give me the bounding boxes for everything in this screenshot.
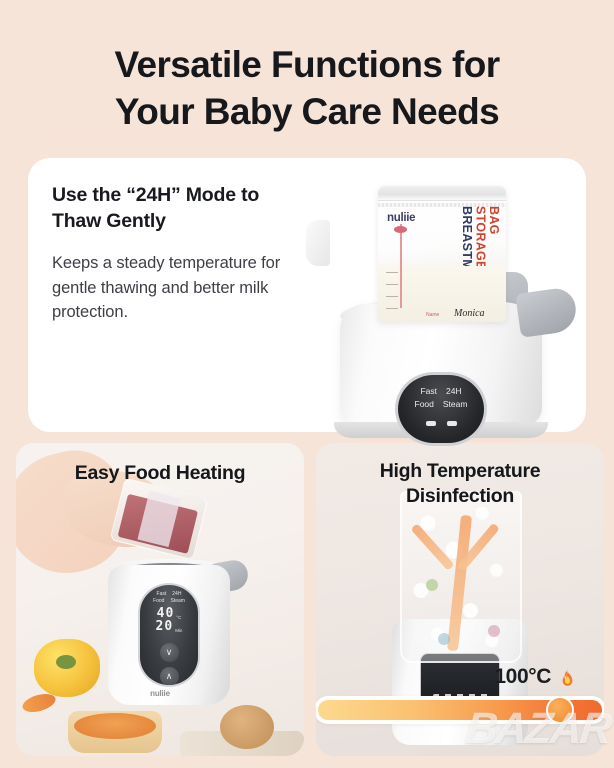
temperature-progress-bar[interactable]	[316, 696, 604, 724]
card-thaw-text: Use the “24H” Mode to Thaw Gently Keeps …	[52, 182, 324, 324]
warmer-mode-labels: Fast 24H Food Steam	[140, 591, 198, 604]
bottle-warmer-device-top: nuliie BREASTMILK STORAGE BAG Name Monic…	[322, 186, 574, 448]
card-thaw-body: Keeps a steady temperature for gentle th…	[52, 251, 324, 324]
breastmilk-storage-bag: nuliie BREASTMILK STORAGE BAG Name Monic…	[378, 186, 506, 322]
card-food-heating: Fast 24H Food Steam 40 °C 20 Min	[16, 443, 304, 756]
bag-name-label: Name	[426, 312, 439, 318]
warmer-control-panel[interactable]: Fast 24H Food Steam 40 °C 20 Min	[138, 583, 200, 687]
temperature-value: 100°C	[494, 665, 551, 689]
device-control-panel[interactable]: Fast 24H Food Steam	[395, 372, 487, 446]
card-disinfection-title: High Temperature Disinfection	[316, 459, 604, 509]
glass-bottle	[400, 491, 522, 663]
card-disinfection-title-line-1: High Temperature	[380, 460, 541, 482]
indicator-dot	[426, 421, 436, 426]
pepper-stem	[56, 655, 76, 669]
mode-label-24h: 24H	[172, 591, 181, 597]
device-handle	[515, 286, 579, 338]
decrease-button[interactable]: ∨	[160, 643, 179, 662]
card-thaw-heading-line-1: Use the “24H” Mode to	[52, 184, 259, 206]
progress-bar-handle[interactable]	[546, 696, 574, 724]
bowl-puree	[74, 713, 156, 739]
card-disinfection: 100°C High Temperature Disinfection	[316, 443, 604, 756]
lcd-time-unit: Min	[175, 628, 182, 633]
mode-label-steam: Steam	[170, 598, 184, 604]
page-title: Versatile Functions for Your Baby Care N…	[0, 42, 614, 136]
bread-roll	[220, 705, 274, 749]
germ-icon	[426, 579, 438, 591]
bag-measure-scale	[386, 266, 430, 318]
germ-icon	[488, 625, 500, 637]
card-food-heating-title: Easy Food Heating	[16, 461, 304, 486]
mode-label-fast: Fast	[420, 386, 437, 396]
bag-brand-logo: nuliie	[387, 212, 415, 224]
panel-indicator-dots	[398, 421, 484, 426]
lcd-time-value: 20	[156, 620, 174, 633]
card-disinfection-title-line-2: Disinfection	[406, 485, 514, 507]
mode-label-fast: Fast	[157, 591, 167, 597]
page-title-line-2: Your Baby Care Needs	[0, 89, 614, 136]
germ-icon	[438, 633, 450, 645]
bag-top-seal	[378, 186, 506, 201]
bag-signature: Monica	[454, 308, 485, 319]
mode-label-food: Food	[415, 399, 434, 409]
bag-red-marker	[394, 226, 407, 233]
indicator-dot	[447, 421, 457, 426]
warmer-button-group: ∨ ∧ ≡ ⏻	[140, 643, 198, 687]
card-thaw-heading: Use the “24H” Mode to Thaw Gently	[52, 182, 324, 234]
mode-label-steam: Steam	[443, 399, 468, 409]
increase-button[interactable]: ∧	[160, 667, 179, 686]
temperature-readout: 100°C	[494, 665, 576, 689]
flame-icon	[559, 667, 576, 688]
mode-label-food: Food	[153, 598, 164, 604]
mode-label-24h: 24H	[446, 386, 462, 396]
card-thaw-heading-line-2: Thaw Gently	[52, 210, 166, 232]
warmer-lcd-display: 40 °C 20 Min	[140, 607, 198, 633]
product-feature-page: Versatile Functions for Your Baby Care N…	[0, 0, 614, 768]
page-title-line-1: Versatile Functions for	[114, 44, 499, 85]
panel-mode-labels: Fast 24H Food Steam	[398, 386, 484, 409]
